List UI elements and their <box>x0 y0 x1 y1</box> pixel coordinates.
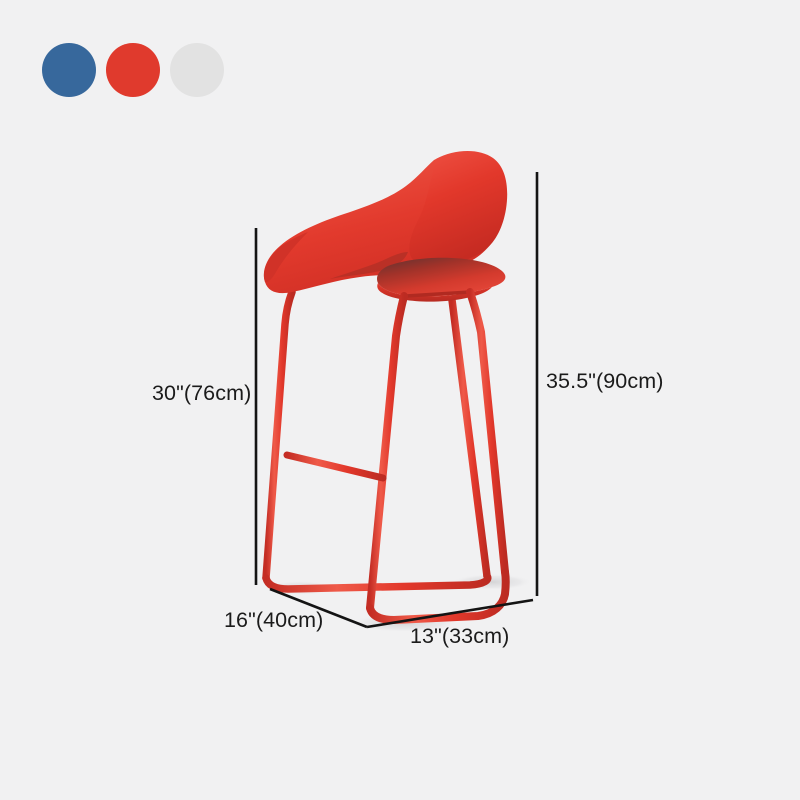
dimension-label-seat-height: 30"(76cm) <box>152 381 251 406</box>
dimension-label-depth: 13"(33cm) <box>410 624 509 649</box>
stool-shell <box>264 151 507 293</box>
stool-frame-rear <box>266 292 488 589</box>
stool-footrest <box>287 455 383 478</box>
dimension-lines <box>256 172 537 627</box>
bar-stool-illustration <box>0 0 800 800</box>
product-image-canvas: 30"(76cm) 35.5"(90cm) 16"(40cm) 13"(33cm… <box>0 0 800 800</box>
stool-frame-front <box>370 292 506 620</box>
dimension-label-width: 16"(40cm) <box>224 608 323 633</box>
dimension-label-overall-height: 35.5"(90cm) <box>546 369 663 394</box>
color-swatch-red[interactable] <box>106 43 160 97</box>
stool-seat <box>377 258 505 302</box>
color-swatch-row <box>42 43 224 97</box>
dimension-line-depth <box>367 600 533 627</box>
color-swatch-blue[interactable] <box>42 43 96 97</box>
color-swatch-white[interactable] <box>170 43 224 97</box>
